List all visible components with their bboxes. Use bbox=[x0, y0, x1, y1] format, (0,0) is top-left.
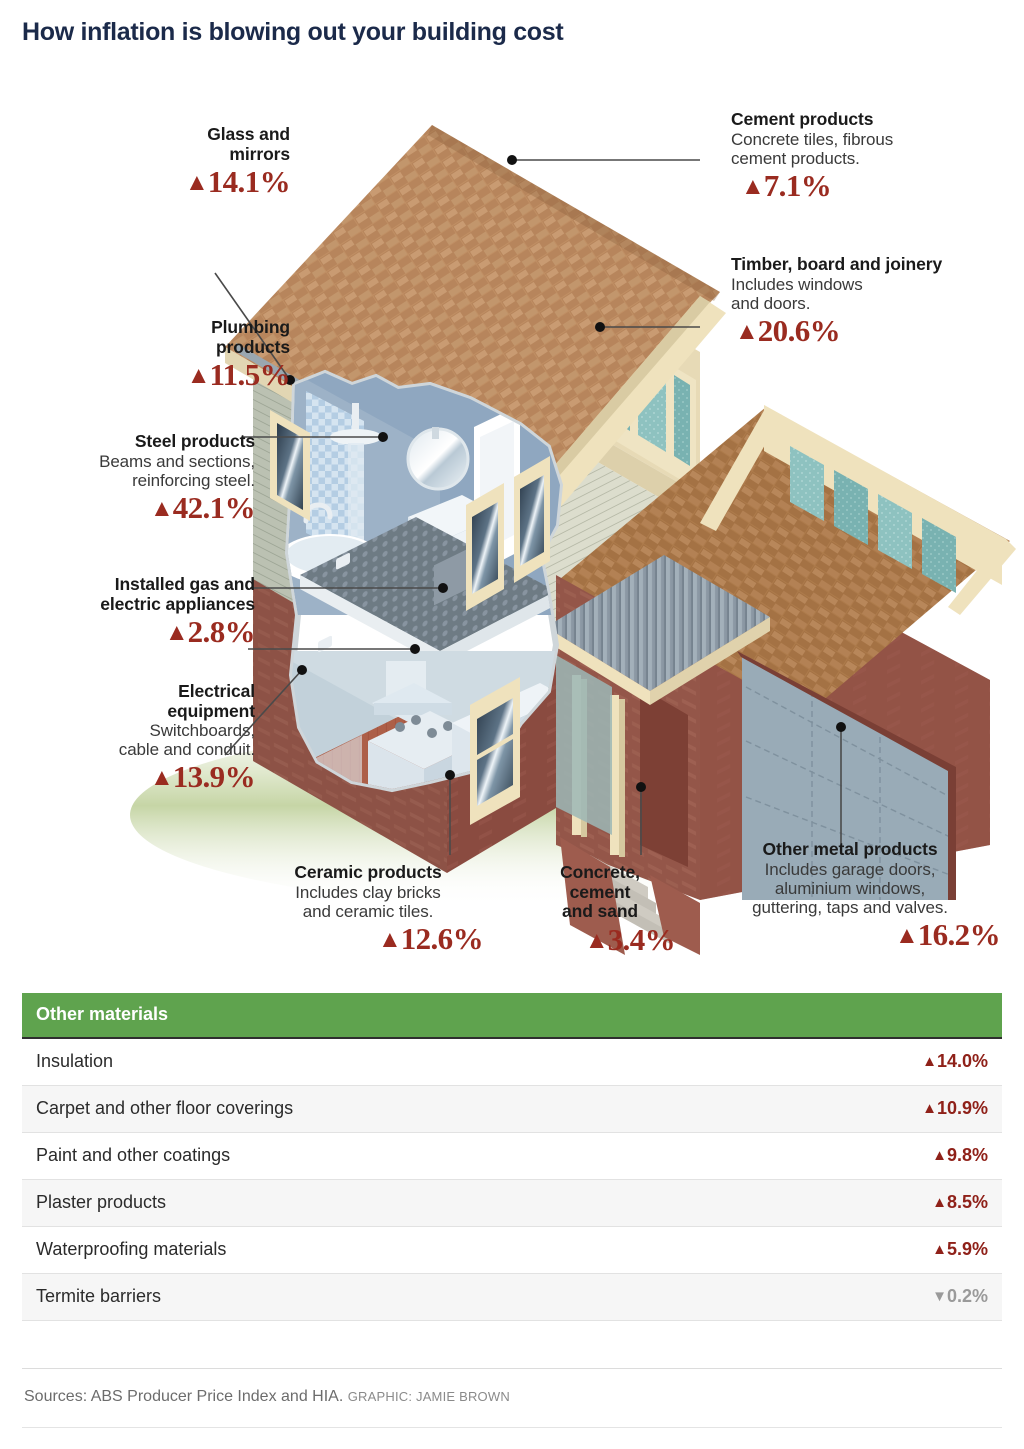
callout-percent: ▲14.1% bbox=[60, 166, 290, 199]
callout-percent: ▲20.6% bbox=[731, 315, 1021, 348]
table-row: Termite barriers▼0.2% bbox=[22, 1274, 1002, 1321]
up-triangle-icon: ▲ bbox=[741, 174, 764, 200]
up-triangle-icon: ▲ bbox=[932, 1147, 947, 1164]
up-triangle-icon: ▲ bbox=[150, 496, 173, 522]
callout-percent: ▲3.4% bbox=[525, 924, 675, 957]
callout-other-metal-products: Other metal products Includes garage doo… bbox=[700, 840, 1000, 951]
up-triangle-icon: ▲ bbox=[922, 1100, 937, 1117]
percent-value: 14.1% bbox=[208, 164, 290, 199]
up-triangle-icon: ▲ bbox=[932, 1241, 947, 1258]
callout-heading-line: Steel products bbox=[135, 431, 255, 451]
up-triangle-icon: ▲ bbox=[187, 363, 210, 389]
window-upper-right-1 bbox=[466, 483, 504, 611]
table-row: Plaster products▲8.5% bbox=[22, 1180, 1002, 1227]
up-triangle-icon: ▲ bbox=[150, 765, 173, 791]
table-row-label: Waterproofing materials bbox=[36, 1239, 226, 1260]
up-triangle-icon: ▲ bbox=[922, 1053, 937, 1070]
callout-steel-products: Steel products Beams and sections, reinf… bbox=[10, 432, 255, 524]
callout-percent: ▲16.2% bbox=[700, 919, 1000, 952]
percent-value: 5.9% bbox=[947, 1239, 988, 1259]
percent-value: 12.6% bbox=[401, 921, 483, 956]
table-row-value: ▼0.2% bbox=[932, 1286, 988, 1307]
table-row-value: ▲10.9% bbox=[922, 1098, 988, 1119]
percent-value: 14.0% bbox=[937, 1051, 988, 1071]
table-row-label: Plaster products bbox=[36, 1192, 166, 1213]
callout-heading-line: Installed gas and bbox=[115, 574, 255, 594]
callout-ceramic-products: Ceramic products Includes clay bricks an… bbox=[253, 863, 483, 955]
bottom-divider bbox=[22, 1427, 1002, 1428]
callout-heading-line: products bbox=[216, 337, 290, 357]
percent-value: 16.2% bbox=[918, 917, 1000, 952]
callout-sub-line: Beams and sections, bbox=[99, 452, 255, 471]
percent-value: 7.1% bbox=[764, 168, 831, 203]
percent-value: 3.4% bbox=[608, 922, 675, 957]
sources-line: Sources: ABS Producer Price Index and HI… bbox=[24, 1388, 510, 1406]
callout-sub-line: Includes clay bricks bbox=[295, 883, 440, 902]
table-row-label: Termite barriers bbox=[36, 1286, 161, 1307]
up-triangle-icon: ▲ bbox=[932, 1194, 947, 1211]
callout-heading-line: Timber, board and joinery bbox=[731, 254, 942, 274]
table-row: Waterproofing materials▲5.9% bbox=[22, 1227, 1002, 1274]
callout-heading-line: equipment bbox=[167, 701, 255, 721]
callout-percent: ▲13.9% bbox=[35, 761, 255, 794]
table-row: Carpet and other floor coverings▲10.9% bbox=[22, 1086, 1002, 1133]
up-triangle-icon: ▲ bbox=[895, 923, 918, 949]
percent-value: 11.5% bbox=[209, 357, 290, 392]
callout-sub-line: Includes garage doors, bbox=[765, 860, 936, 879]
percent-value: 20.6% bbox=[758, 313, 840, 348]
callout-percent: ▲11.5% bbox=[60, 359, 290, 392]
callout-sub-line: Switchboards, bbox=[150, 721, 255, 740]
callout-sub-line: cable and conduit. bbox=[119, 740, 255, 759]
other-materials-table: Other materials Insulation▲14.0%Carpet a… bbox=[22, 993, 1002, 1321]
callout-sub-line: Includes windows bbox=[731, 275, 863, 294]
percent-value: 0.2% bbox=[947, 1286, 988, 1306]
callout-percent: ▲2.8% bbox=[20, 616, 255, 649]
callout-sub-line: and doors. bbox=[731, 294, 810, 313]
table-row-value: ▲9.8% bbox=[932, 1145, 988, 1166]
graphic-credit: GRAPHIC: JAMIE BROWN bbox=[348, 1389, 510, 1404]
callout-timber-board-and-joinery: Timber, board and joinery Includes windo… bbox=[731, 255, 1021, 347]
callout-heading-line: cement bbox=[570, 882, 631, 902]
callout-heading-line: electric appliances bbox=[100, 594, 255, 614]
callout-plumbing-products: Plumbing products ▲11.5% bbox=[60, 318, 290, 392]
callout-heading-line: and sand bbox=[562, 901, 638, 921]
table-row-label: Paint and other coatings bbox=[36, 1145, 230, 1166]
callout-sub-line: aluminium windows, bbox=[775, 879, 925, 898]
callout-heading-line: Glass and bbox=[207, 124, 290, 144]
callout-sub-line: and ceramic tiles. bbox=[303, 902, 433, 921]
percent-value: 10.9% bbox=[937, 1098, 988, 1118]
percent-value: 8.5% bbox=[947, 1192, 988, 1212]
table-header: Other materials bbox=[22, 993, 1002, 1039]
percent-value: 13.9% bbox=[173, 759, 255, 794]
page-title: How inflation is blowing out your buildi… bbox=[22, 18, 563, 47]
up-triangle-icon: ▲ bbox=[735, 319, 758, 345]
up-triangle-icon: ▲ bbox=[185, 170, 208, 196]
callout-heading-line: Ceramic products bbox=[294, 862, 441, 882]
callout-percent: ▲42.1% bbox=[10, 492, 255, 525]
callout-percent: ▲7.1% bbox=[731, 170, 1016, 203]
callout-sub-line: guttering, taps and valves. bbox=[752, 898, 948, 917]
up-triangle-icon: ▲ bbox=[378, 927, 401, 953]
percent-value: 9.8% bbox=[947, 1145, 988, 1165]
sources-text: Sources: ABS Producer Price Index and HI… bbox=[24, 1388, 343, 1405]
callout-heading-line: Concrete, bbox=[560, 862, 640, 882]
callout-sub-line: cement products. bbox=[731, 149, 860, 168]
percent-value: 2.8% bbox=[188, 614, 255, 649]
table-row-label: Insulation bbox=[36, 1051, 113, 1072]
table-row-label: Carpet and other floor coverings bbox=[36, 1098, 293, 1119]
callout-heading-line: Plumbing bbox=[211, 317, 290, 337]
table-row: Paint and other coatings▲9.8% bbox=[22, 1133, 1002, 1180]
callout-concrete-cement-and-sand: Concrete, cement and sand ▲3.4% bbox=[525, 863, 675, 956]
callout-electrical-equipment: Electrical equipment Switchboards, cable… bbox=[35, 682, 255, 794]
table-row-value: ▲8.5% bbox=[932, 1192, 988, 1213]
callout-heading-line: Cement products bbox=[731, 109, 873, 129]
callout-glass-and-mirrors: Glass and mirrors ▲14.1% bbox=[60, 125, 290, 199]
callout-sub-line: Concrete tiles, fibrous bbox=[731, 130, 893, 149]
callout-heading-line: Electrical bbox=[178, 681, 255, 701]
window-upper-right-2 bbox=[514, 456, 550, 583]
up-triangle-icon: ▲ bbox=[165, 620, 188, 646]
callout-heading-line: mirrors bbox=[229, 144, 290, 164]
callout-installed-gas-and-electric-appliances: Installed gas and electric appliances ▲2… bbox=[20, 575, 255, 649]
table-row-value: ▲5.9% bbox=[932, 1239, 988, 1260]
footer-divider bbox=[22, 1368, 1002, 1369]
percent-value: 42.1% bbox=[173, 490, 255, 525]
callout-heading-line: Other metal products bbox=[763, 839, 938, 859]
down-triangle-icon: ▼ bbox=[932, 1288, 947, 1305]
callout-percent: ▲12.6% bbox=[253, 923, 483, 956]
table-row: Insulation▲14.0% bbox=[22, 1039, 1002, 1086]
front-door bbox=[640, 687, 688, 867]
callout-sub-line: reinforcing steel. bbox=[132, 471, 255, 490]
up-triangle-icon: ▲ bbox=[585, 928, 608, 954]
table-body: Insulation▲14.0%Carpet and other floor c… bbox=[22, 1039, 1002, 1321]
callout-cement-products: Cement products Concrete tiles, fibrous … bbox=[731, 110, 1016, 202]
table-row-value: ▲14.0% bbox=[922, 1051, 988, 1072]
